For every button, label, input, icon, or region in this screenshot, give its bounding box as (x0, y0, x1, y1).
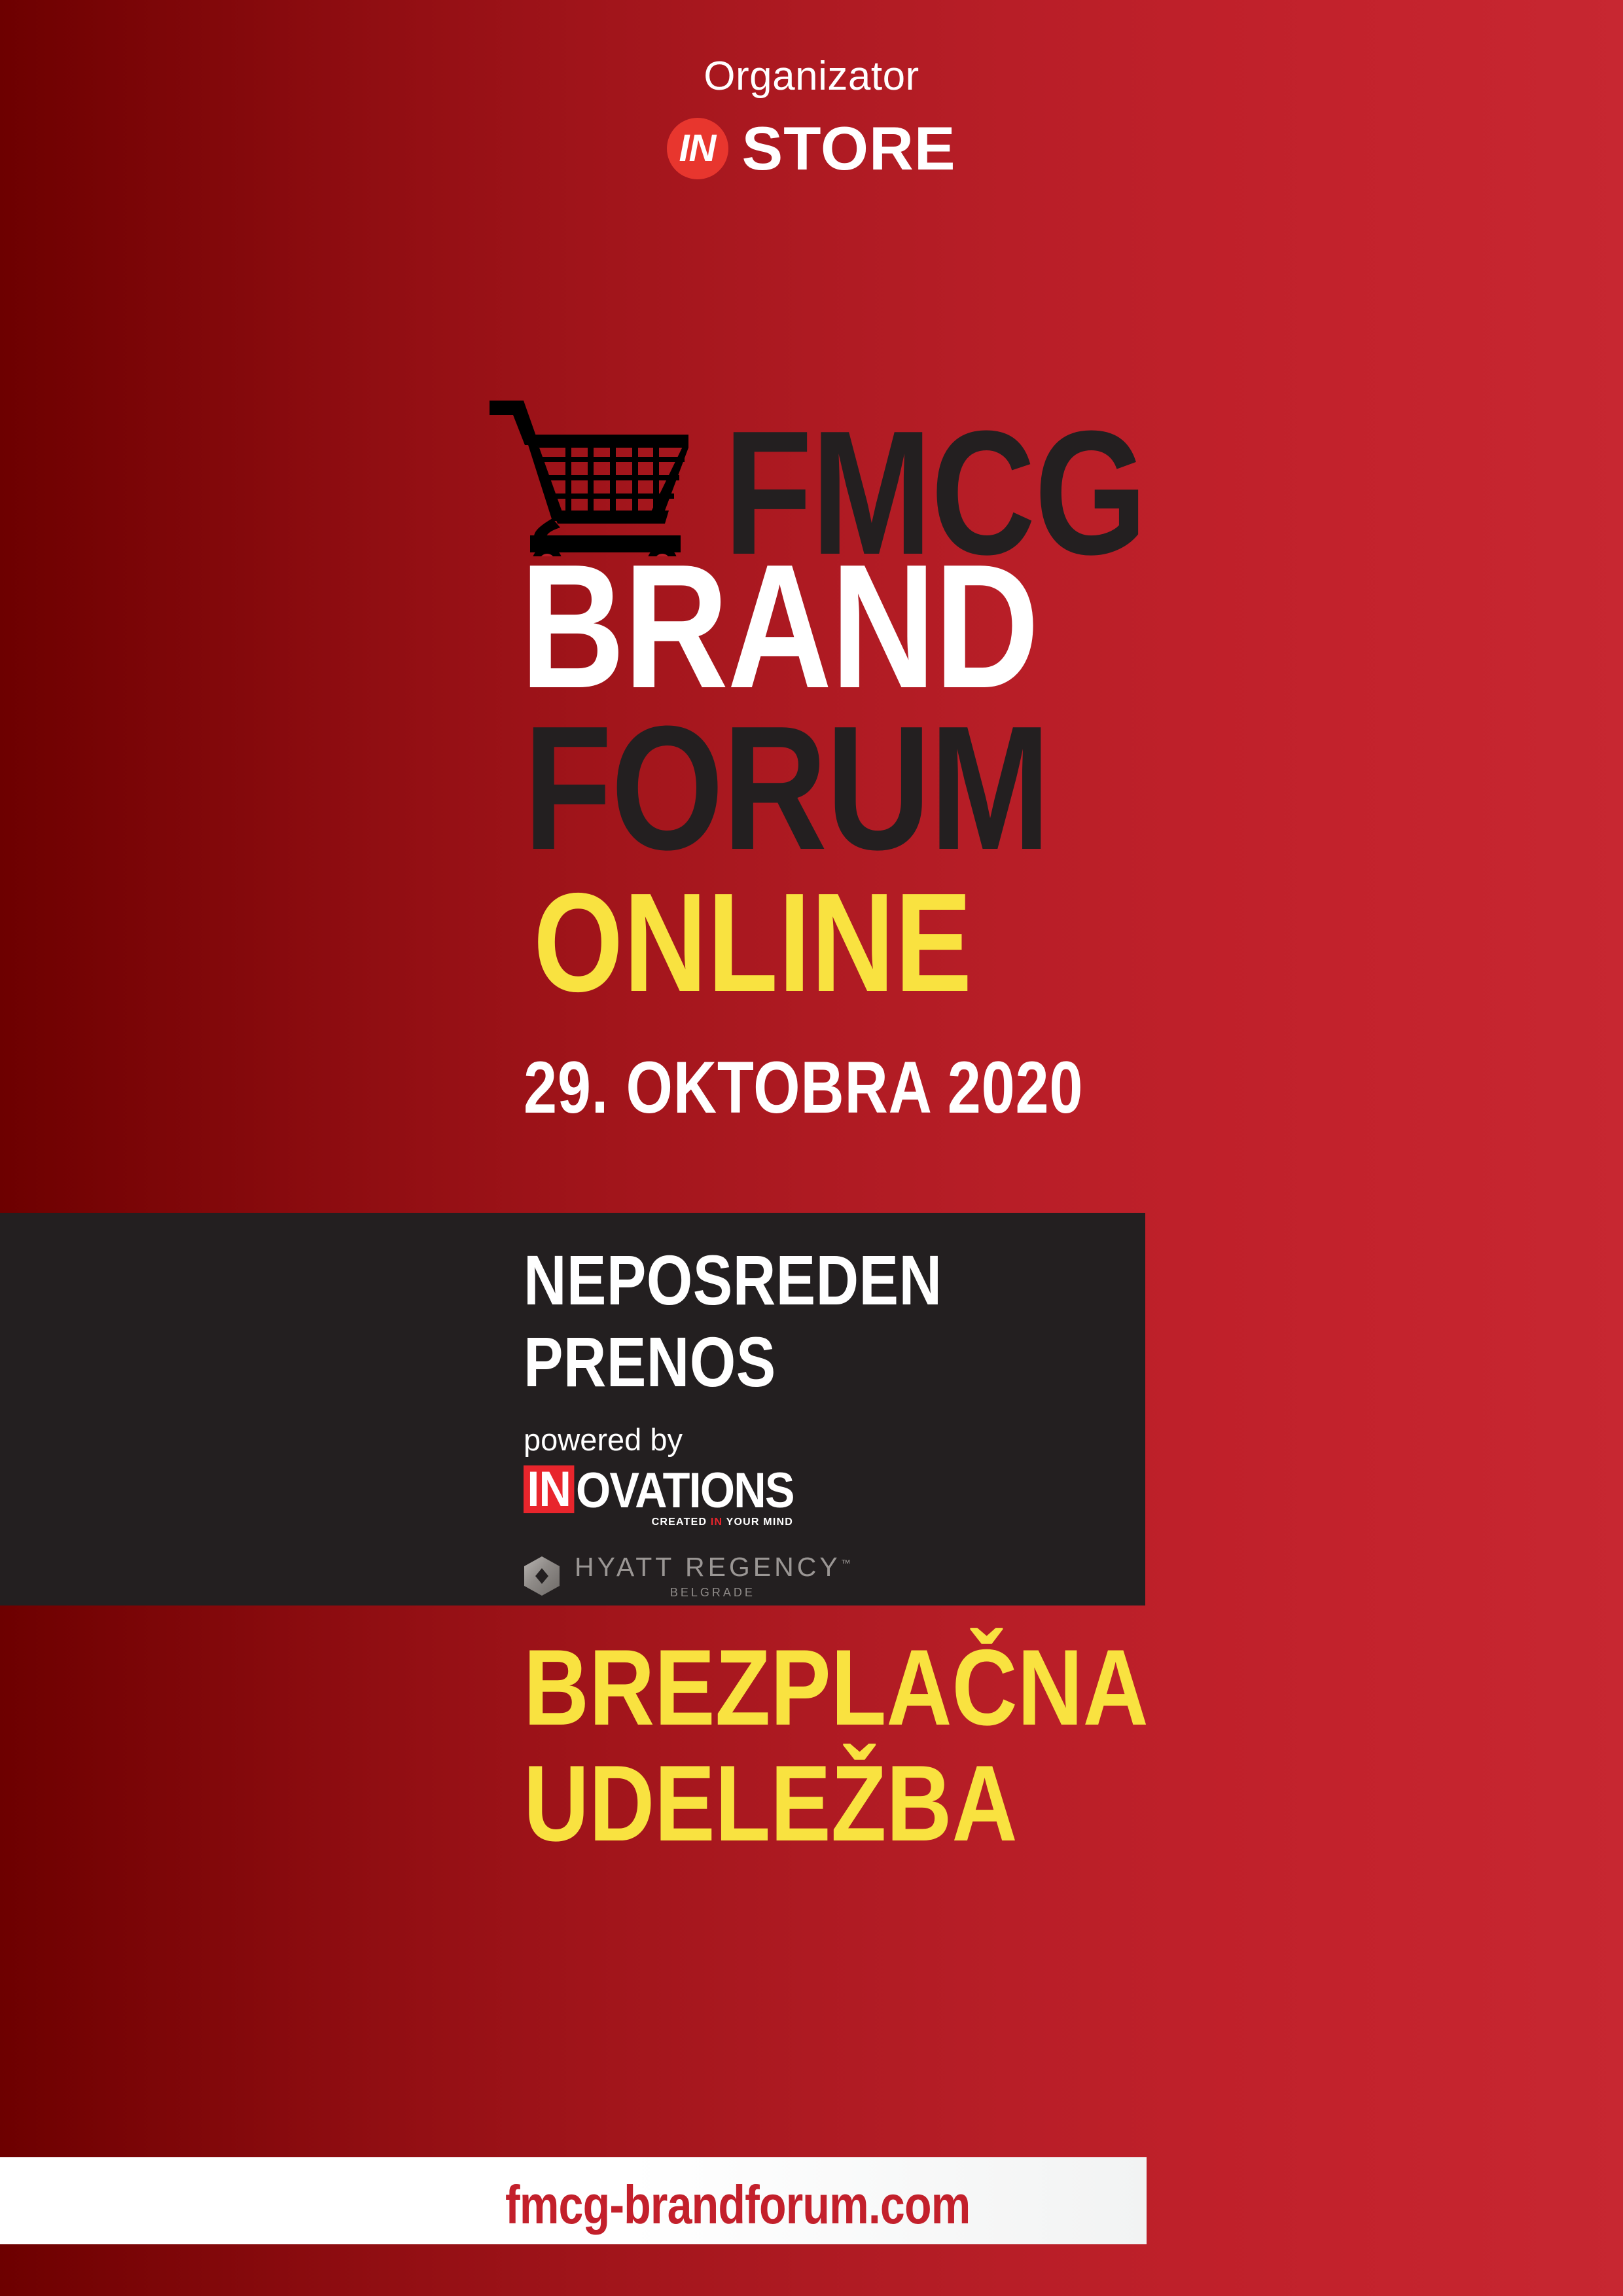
broadcast-panel-content: NEPOSREDEN PRENOS powered by INOVATIONS … (524, 1239, 1022, 1598)
free-participation-block: BREZPLAČNA UDELEŽBA (524, 1630, 1268, 1861)
footer-bar: fmcg-brandforum.com (0, 2157, 1147, 2244)
title-word-brand: BRAND (520, 553, 1038, 702)
powered-by-label: powered by (524, 1424, 1022, 1455)
website-url[interactable]: fmcg-brandforum.com (505, 2178, 970, 2232)
poster-canvas: Organizator IN STORE (0, 0, 1623, 2296)
hyatt-regency-logo: HYATT REGENCY™ BELGRADE (524, 1554, 1022, 1598)
hyatt-trademark: ™ (841, 1558, 851, 1570)
hyatt-name-text: HYATT REGENCY (575, 1552, 841, 1582)
title-word-online: ONLINE (533, 884, 972, 1002)
inovations-logo: INOVATIONS CREATED IN YOUR MIND (524, 1465, 1022, 1528)
hyatt-name: HYATT REGENCY™ (575, 1554, 851, 1581)
organizer-block: Organizator IN STORE (0, 56, 1623, 179)
instore-brand-word: STORE (741, 118, 955, 179)
free-participation-line1: BREZPLAČNA (524, 1630, 1149, 1746)
instore-logo: IN STORE (667, 118, 955, 179)
inovations-suffix: OVATIONS (576, 1468, 794, 1514)
inovations-tagline: CREATED IN YOUR MIND (524, 1517, 793, 1528)
inovations-tagline-before: CREATED (652, 1516, 711, 1528)
inovations-tagline-after: YOUR MIND (722, 1516, 793, 1528)
broadcast-heading-line1: NEPOSREDEN (524, 1239, 942, 1321)
hyatt-hexagon-icon (524, 1556, 560, 1596)
free-participation-line2: UDELEŽBA (524, 1746, 1149, 1861)
event-date: 29. OKTOBRA 2020 (524, 1057, 1083, 1119)
broadcast-panel: NEPOSREDEN PRENOS powered by INOVATIONS … (0, 1213, 1145, 1605)
inovations-tagline-highlight: IN (711, 1516, 722, 1528)
title-word-forum: FORUM (524, 715, 1049, 863)
hyatt-wordmark: HYATT REGENCY™ BELGRADE (575, 1554, 851, 1598)
broadcast-heading-line2: PRENOS (524, 1321, 942, 1403)
inovations-prefix: IN (524, 1465, 574, 1514)
in-badge-icon: IN (667, 118, 728, 179)
hyatt-city: BELGRADE (575, 1587, 851, 1598)
organizer-label: Organizator (0, 56, 1623, 97)
